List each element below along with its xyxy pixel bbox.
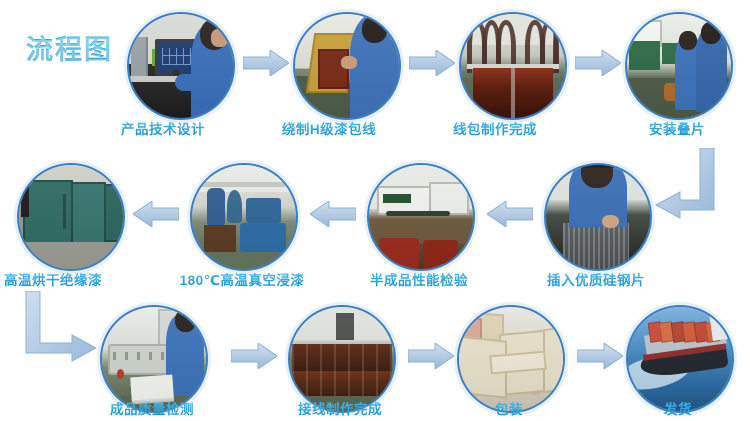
flow-step-1-label: 产品技术设计 [78, 118, 248, 138]
arrow-right-2 [409, 50, 455, 76]
arrow-right-6 [577, 343, 623, 369]
flow-step-3-label: 线包制作完成 [410, 118, 580, 138]
arrow-left-1 [133, 201, 179, 227]
flow-step-7-image [367, 163, 475, 271]
page-title: 流程图 [26, 28, 113, 67]
flow-step-2-image [293, 12, 401, 120]
flow-step-7-label: 半成品性能检验 [334, 269, 504, 289]
arrow-right-1 [243, 50, 289, 76]
connector-row2-to-row3 [22, 291, 100, 373]
flow-step-6-label: 180℃高温真空浸漆 [157, 269, 327, 289]
flow-step-8-label: 插入优质硅钢片 [511, 269, 681, 289]
flow-step-8-image [544, 163, 652, 271]
arrow-left-2 [310, 201, 356, 227]
flow-step-11-image [457, 305, 565, 413]
flow-step-2-label: 绕制H级漆包线 [244, 118, 414, 138]
flow-step-10-image [288, 305, 396, 413]
flow-step-1-image [127, 12, 235, 120]
flow-step-4-image [625, 12, 733, 120]
flow-step-9-image [100, 305, 208, 413]
flow-step-4-label: 安装叠片 [592, 118, 750, 138]
flow-step-6-image [190, 163, 298, 271]
connector-row1-to-row2 [650, 148, 718, 226]
flow-step-11-label: 包装 [424, 398, 594, 418]
arrow-right-3 [575, 50, 621, 76]
flow-step-5-label: 高温烘干绝缘漆 [0, 269, 138, 289]
flow-step-10-label: 接线制作完成 [255, 398, 425, 418]
flow-step-12-label: 发货 [593, 398, 750, 418]
arrow-right-5 [408, 343, 454, 369]
flow-step-3-image [459, 12, 567, 120]
flow-step-5-image [17, 163, 125, 271]
flow-step-12-image [626, 305, 734, 413]
flow-step-9-label: 成品质量检测 [67, 398, 237, 418]
arrow-left-3 [487, 201, 533, 227]
arrow-right-4 [231, 343, 277, 369]
flowchart-canvas: 流程图 产品技术设计 绕制H级漆包线 [0, 0, 750, 421]
